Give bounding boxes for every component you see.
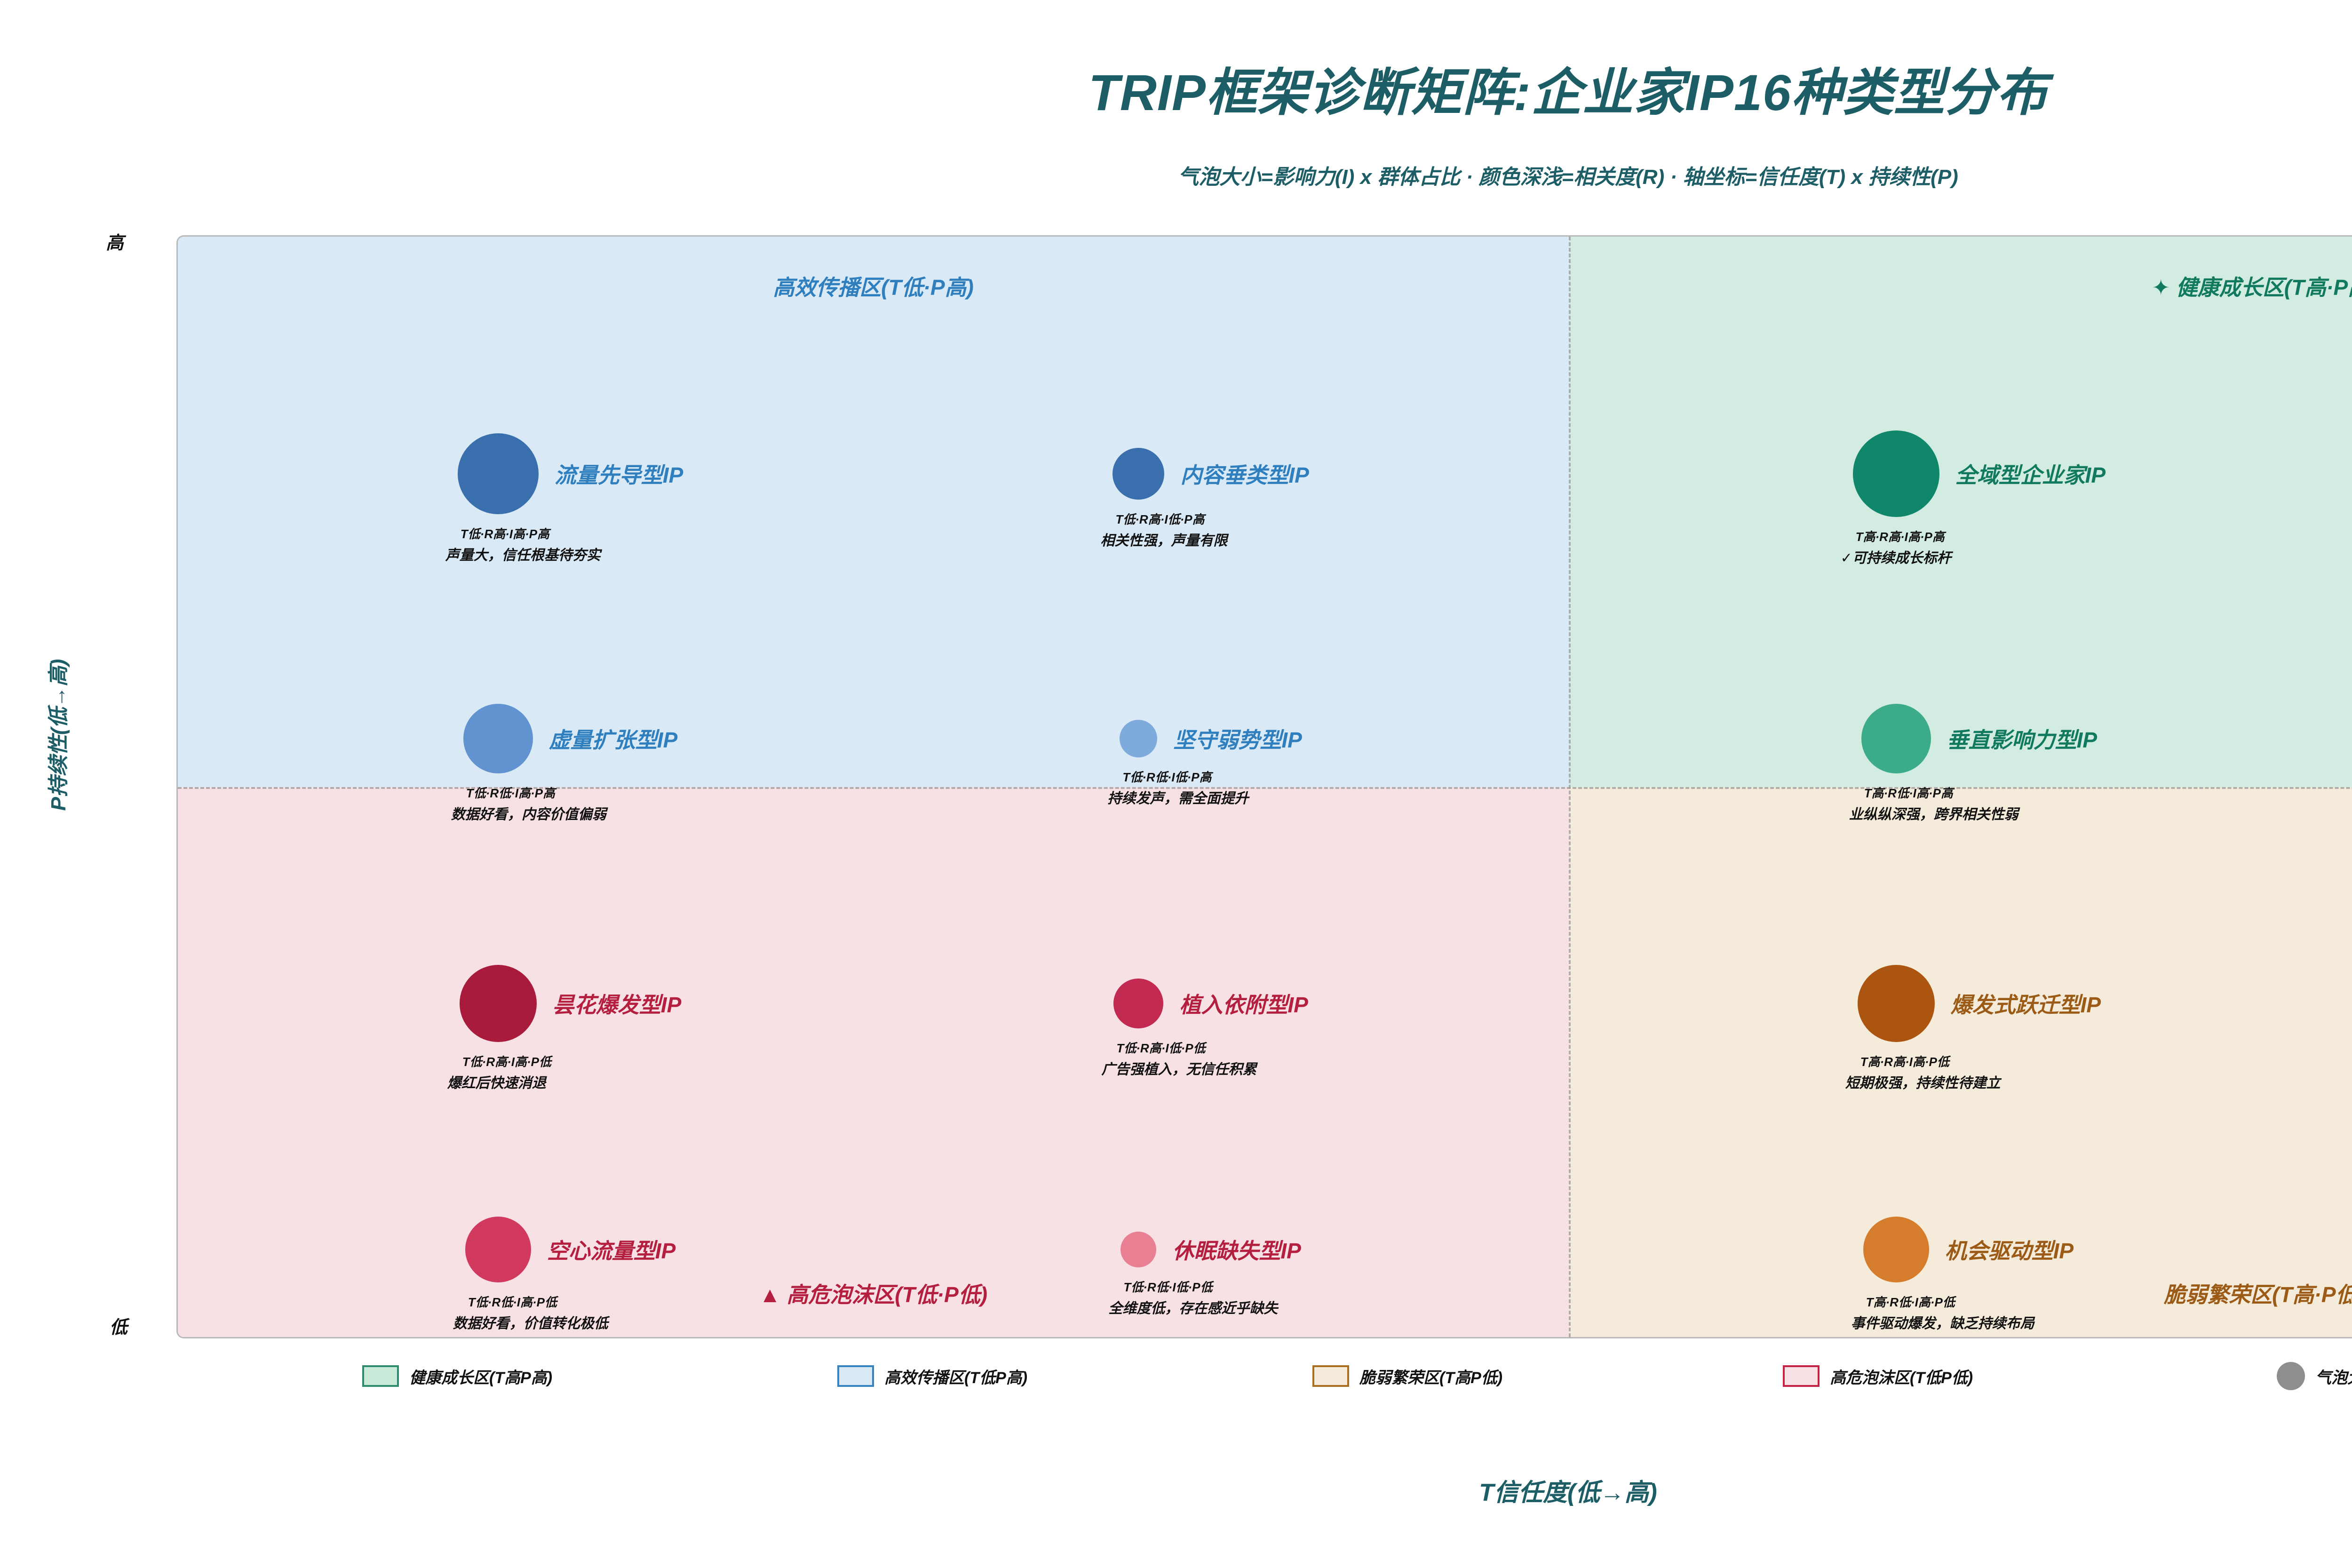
quadrant-caption-high-risk-bubble: ▲ 高危泡沫区(T低·P低): [759, 1278, 987, 1309]
bubble-meta: T低·R高·I低·P高: [1115, 510, 1204, 527]
bubble-label: 全域型企业家IP: [1955, 458, 2106, 489]
y-axis-label: P持续性(低→高): [41, 523, 72, 947]
bubble-meta: T高·R高·I高·P高: [1856, 527, 1945, 545]
quadrant-caption-healthy-growth: ✦ 健康成长区(T高·P高): [2152, 271, 2352, 302]
bubble-label: 流量先导型IP: [555, 458, 683, 489]
bubble-marker[interactable]: [465, 1217, 531, 1282]
legend-label: 高效传播区(T低P高): [884, 1365, 1027, 1388]
bubble-meta: T低·R低·I低·P低: [1123, 1278, 1212, 1295]
bubble-description: 数据好看，价值转化极低: [453, 1312, 608, 1332]
bubble-marker[interactable]: [460, 965, 537, 1042]
bubble-description: 爆红后快速消退: [447, 1071, 546, 1092]
quadrant-caption-high-reach: 高效传播区(T低·P高): [773, 271, 974, 302]
legend-swatch: [1783, 1365, 1820, 1387]
bubble-label: 爆发式跃迁型IP: [1951, 988, 2101, 1019]
bubble-description: 声量大，信任根基待夯实: [445, 543, 601, 564]
bubble-label: 植入依附型IP: [1179, 988, 1308, 1019]
bubble-label: 内容垂类型IP: [1180, 458, 1309, 489]
bubble-meta: T低·R高·I高·P高: [461, 525, 549, 542]
y-axis-tick-low: 低: [110, 1313, 127, 1338]
legend: 健康成长区(T高P高)高效传播区(T低P高)脆弱繁荣区(T高P低)高危泡沫区(T…: [362, 1362, 2352, 1390]
bubble-meta: T低·R高·I低·P低: [1116, 1039, 1205, 1056]
chart-page: TRIP框架诊断矩阵:企业家IP16种类型分布 气泡大小=影响力(I) x 群体…: [0, 0, 2352, 1568]
legend-item[interactable]: 高效传播区(T低P高): [837, 1365, 1195, 1388]
x-axis-label: T信任度(低→高): [0, 1472, 2352, 1508]
page-title: TRIP框架诊断矩阵:企业家IP16种类型分布: [0, 52, 2352, 125]
bubble-meta: T高·R低·I高·P低: [1866, 1293, 1955, 1310]
bubble-marker[interactable]: [1120, 720, 1157, 757]
legend-item[interactable]: 气泡大=I高·占比大: [2277, 1362, 2352, 1390]
quadrant-high-risk-bubble: [178, 787, 1569, 1337]
bubble-label: 垂直影响力型IP: [1947, 723, 2097, 754]
quadrant-healthy-growth: [1569, 237, 2352, 787]
quadrant-high-reach: [178, 237, 1569, 787]
legend-label: 脆弱繁荣区(T高P低): [1359, 1365, 1502, 1388]
bubble-label: 机会驱动型IP: [1945, 1234, 2074, 1265]
bubble-label: 虚量扩张型IP: [549, 723, 677, 754]
legend-item[interactable]: 脆弱繁荣区(T高P低): [1312, 1365, 1670, 1388]
legend-item[interactable]: 高危泡沫区(T低P低): [1783, 1365, 2140, 1388]
bubble-meta: T低·R高·I高·P低: [462, 1052, 551, 1070]
bubble-description: 短期极强，持续性待建立: [1845, 1071, 2001, 1092]
legend-swatch: [1312, 1365, 1349, 1387]
bubble-description: ✓可持续成长标杆: [1841, 546, 1951, 567]
legend-bubble-icon: [2277, 1362, 2305, 1390]
bubble-meta: T高·R高·I高·P低: [1860, 1052, 1949, 1070]
bubble-description: 事件驱动爆发，缺乏持续布局: [1851, 1312, 2034, 1332]
bubble-meta: T低·R低·I低·P高: [1122, 768, 1211, 785]
bubble-label: 昙花爆发型IP: [553, 988, 681, 1019]
legend-item[interactable]: 健康成长区(T高P高): [362, 1365, 720, 1388]
bubble-description: 持续发声，需全面提升: [1107, 787, 1248, 807]
bubble-marker[interactable]: [1112, 448, 1164, 500]
bubble-description: 数据好看，内容价值偏弱: [451, 803, 606, 823]
y-axis-tick-high: 高: [106, 228, 124, 254]
bubble-marker[interactable]: [1120, 1232, 1156, 1267]
bubble-meta: T高·R低·I高·P高: [1864, 784, 1953, 801]
bubble-description: 全维度低，存在感近乎缺失: [1108, 1297, 1278, 1317]
legend-swatch: [837, 1365, 874, 1387]
bubble-marker[interactable]: [1858, 965, 1935, 1042]
legend-label: 健康成长区(T高P高): [409, 1365, 552, 1388]
bubble-marker[interactable]: [1861, 704, 1931, 773]
bubble-marker[interactable]: [463, 704, 533, 773]
bubble-label: 休眠缺失型IP: [1172, 1234, 1301, 1265]
matrix-plot-area: 高效传播区(T低·P高) ✦ 健康成长区(T高·P高) ▲ 高危泡沫区(T低·P…: [176, 235, 2352, 1338]
legend-swatch: [362, 1365, 399, 1387]
bubble-meta: T低·R低·I高·P低: [468, 1293, 557, 1310]
legend-label: 气泡大=I高·占比大: [2315, 1365, 2352, 1388]
bubble-description: 相关性强，声量有限: [1100, 529, 1227, 549]
bubble-meta: T低·R低·I高·P高: [466, 784, 555, 801]
bubble-marker[interactable]: [1863, 1217, 1929, 1282]
quadrant-caption-fragile-prosperity: 脆弱繁荣区(T高·P低): [2164, 1278, 2352, 1309]
bubble-description: 广告强植入，无信任积累: [1101, 1058, 1256, 1078]
bubble-marker[interactable]: [1113, 979, 1163, 1028]
bubble-label: 空心流量型IP: [547, 1234, 675, 1265]
page-subtitle: 气泡大小=影响力(I) x 群体占比 · 颜色深浅=相关度(R) · 轴坐标=信…: [0, 160, 2352, 190]
bubble-marker[interactable]: [1853, 430, 1939, 517]
bubble-label: 坚守弱势型IP: [1173, 723, 1302, 754]
bubble-marker[interactable]: [458, 433, 539, 514]
legend-label: 高危泡沫区(T低P低): [1830, 1365, 1973, 1388]
bubble-description: 业纵纵深强，跨界相关性弱: [1849, 803, 2018, 823]
